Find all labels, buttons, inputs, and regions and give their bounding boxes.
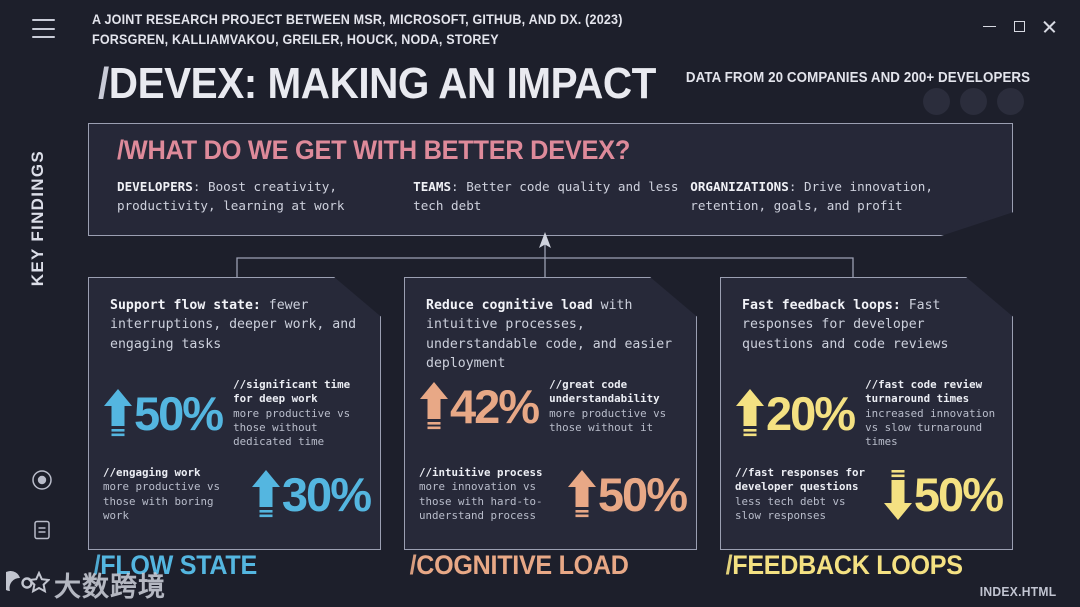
card-feedback-loops-lead: Fast feedback loops: Fast responses for … xyxy=(742,296,1000,354)
stat-flow-state-2: 30% //engaging workmore productive vs th… xyxy=(103,466,370,523)
stat-cognitive-load-2-value: 50% xyxy=(598,473,686,516)
stat-cognitive-load-2-value-group: 50% xyxy=(567,469,686,521)
arrow-up-icon xyxy=(567,469,597,521)
document-list-icon[interactable] xyxy=(30,518,54,542)
benefits-panel-title: /WHAT DO WE GET WITH BETTER DEVEX? xyxy=(117,135,630,166)
stat-feedback-loops-2-note: //fast responses for developer questions… xyxy=(735,466,874,523)
stat-flow-state-1: 50% //significant time for deep workmore… xyxy=(103,378,370,450)
benefit-term-teams: TEAMS xyxy=(413,179,451,194)
stat-feedback-loops-2-note-bold: //fast responses for developer questions xyxy=(735,466,874,495)
stat-flow-state-1-note-bold: //significant time for deep work xyxy=(233,378,370,407)
stat-cognitive-load-1-value: 42% xyxy=(450,385,538,428)
benefit-sep-2: : xyxy=(789,179,804,194)
footer-label-feedback-loops: /FEEDBACK LOOPS xyxy=(720,550,992,590)
card-cognitive-load[interactable]: Reduce cognitive load with intuitive pro… xyxy=(404,277,697,550)
arrow-up-icon xyxy=(103,388,133,440)
card-cognitive-load-lead: Reduce cognitive load with intuitive pro… xyxy=(426,296,684,374)
stat-flow-state-1-note: //significant time for deep workmore pro… xyxy=(233,378,370,450)
stat-flow-state-2-value-group: 30% xyxy=(251,469,370,521)
watermark-text: 大数跨境 xyxy=(54,574,166,601)
stat-feedback-loops-1-note-bold: //fast code review turnaround times xyxy=(865,378,1002,407)
arrow-up-icon xyxy=(251,469,281,521)
title-text: DEVEX: MAKING AN IMPACT xyxy=(109,59,656,108)
footer-label-cognitive-load: /COGNITIVE LOAD xyxy=(404,550,676,590)
research-credit-line2: FORSGREN, KALLIAMVAKOU, GREILER, HOUCK, … xyxy=(92,30,623,50)
stat-feedback-loops-2-value-group: 50% xyxy=(883,469,1002,521)
card-feedback-loops-lead-bold: Fast feedback loops: xyxy=(742,298,901,313)
menu-bar-3 xyxy=(32,36,55,38)
stat-cognitive-load-2: 50% //intuitive processmore innovation v… xyxy=(419,466,686,523)
stat-feedback-loops-2: 50% //fast responses for developer quest… xyxy=(735,466,1002,523)
stat-feedback-loops-1-value: 20% xyxy=(766,392,854,435)
benefit-term-developers: DEVELOPERS xyxy=(117,179,193,194)
data-source-note: DATA FROM 20 COMPANIES AND 200+ DEVELOPE… xyxy=(686,70,1030,86)
card-flow-state-lead: Support flow state: fewer interruptions,… xyxy=(110,296,368,354)
card-footer-labels: /FLOW STATE /COGNITIVE LOAD /FEEDBACK LO… xyxy=(88,550,1013,590)
stat-flow-state-2-note-bold: //engaging work xyxy=(103,466,242,480)
research-credit: A JOINT RESEARCH PROJECT BETWEEN MSR, MI… xyxy=(92,10,623,50)
benefit-sep-1: : xyxy=(451,179,466,194)
close-icon[interactable] xyxy=(1043,20,1056,33)
stat-feedback-loops-1-note: //fast code review turnaround timesincre… xyxy=(865,378,1002,450)
arrow-up-icon xyxy=(735,388,765,440)
menu-bar-1 xyxy=(32,19,55,21)
stat-flow-state-1-value: 50% xyxy=(134,392,222,435)
benefit-term-organizations: ORGANIZATIONS xyxy=(690,179,789,194)
menu-icon[interactable] xyxy=(32,19,55,38)
stat-feedback-loops-1-note-text: increased innovation vs slow turnaround … xyxy=(865,407,995,449)
stat-feedback-loops-2-note-text: less tech debt vs slow responses xyxy=(735,495,846,522)
dot-2 xyxy=(960,88,987,115)
stat-flow-state-1-note-text: more productive vs those without dedicat… xyxy=(233,407,350,449)
stat-flow-state-2-value: 30% xyxy=(282,473,370,516)
stat-cognitive-load-2-note-bold: //intuitive process xyxy=(419,466,558,480)
benefits-title-text: WHAT DO WE GET WITH BETTER DEVEX? xyxy=(124,135,630,165)
benefit-sep-0: : xyxy=(193,179,208,194)
findings-cards: Support flow state: fewer interruptions,… xyxy=(88,277,1013,550)
dot-3 xyxy=(997,88,1024,115)
slide-root: A JOINT RESEARCH PROJECT BETWEEN MSR, MI… xyxy=(0,0,1080,607)
stat-cognitive-load-2-note: //intuitive processmore innovation vs th… xyxy=(419,466,558,523)
card-flow-state[interactable]: Support flow state: fewer interruptions,… xyxy=(88,277,381,550)
stat-cognitive-load-1-note: //great code understandabilitymore produ… xyxy=(549,378,686,435)
page-title: /DEVEX: MAKING AN IMPACT xyxy=(98,62,656,106)
stat-feedback-loops-1: 20% //fast code review turnaround timesi… xyxy=(735,378,1002,450)
stat-feedback-loops-2-value: 50% xyxy=(914,473,1002,516)
arrow-up-icon xyxy=(419,381,449,433)
stat-cognitive-load-1-note-text: more productive vs those without it xyxy=(549,407,666,434)
benefit-column-organizations: ORGANIZATIONS: Drive innovation, retenti… xyxy=(690,178,994,215)
card-cognitive-load-lead-bold: Reduce cognitive load xyxy=(426,298,593,313)
card-feedback-loops[interactable]: Fast feedback loops: Fast responses for … xyxy=(720,277,1013,550)
stat-flow-state-1-value-group: 50% xyxy=(103,388,222,440)
target-circle-icon[interactable] xyxy=(30,468,54,492)
stat-feedback-loops-1-value-group: 20% xyxy=(735,388,854,440)
arrow-down-icon xyxy=(883,469,913,521)
card-flow-state-lead-bold: Support flow state: xyxy=(110,298,261,313)
stat-cognitive-load-1-value-group: 42% xyxy=(419,381,538,433)
stat-flow-state-2-note: //engaging workmore productive vs those … xyxy=(103,466,242,523)
benefit-column-teams: TEAMS: Better code quality and less tech… xyxy=(413,178,690,215)
dot-1 xyxy=(923,88,950,115)
menu-bar-2 xyxy=(32,28,55,30)
footer-cognitive-load-text: COGNITIVE LOAD xyxy=(416,550,628,580)
maximize-icon[interactable] xyxy=(1014,21,1025,32)
index-html-label: INDEX.HTML xyxy=(979,584,1056,599)
footer-feedback-loops-text: FEEDBACK LOOPS xyxy=(732,550,962,580)
benefits-columns: DEVELOPERS: Boost creativity, productivi… xyxy=(107,178,994,215)
benefit-column-developers: DEVELOPERS: Boost creativity, productivi… xyxy=(107,178,413,215)
window-controls xyxy=(983,20,1056,33)
research-credit-line1: A JOINT RESEARCH PROJECT BETWEEN MSR, MI… xyxy=(92,10,623,30)
stat-cognitive-load-1-note-bold: //great code understandability xyxy=(549,378,686,407)
stat-cognitive-load-1: 42% //great code understandabilitymore p… xyxy=(419,378,686,435)
watermark: 大数跨境 xyxy=(6,571,166,603)
benefits-panel: /WHAT DO WE GET WITH BETTER DEVEX? DEVEL… xyxy=(88,123,1013,236)
title-slash: / xyxy=(98,59,109,108)
star-logo-icon xyxy=(6,571,50,603)
stat-cognitive-load-2-note-text: more innovation vs those with hard-to-un… xyxy=(419,480,543,522)
decorative-dots xyxy=(923,88,1024,115)
minimize-icon[interactable] xyxy=(983,26,996,28)
footer-feedback-loops-slash: / xyxy=(726,550,733,580)
footer-cognitive-load-slash: / xyxy=(410,550,417,580)
stat-flow-state-2-note-text: more productive vs those with boring wor… xyxy=(103,480,220,522)
